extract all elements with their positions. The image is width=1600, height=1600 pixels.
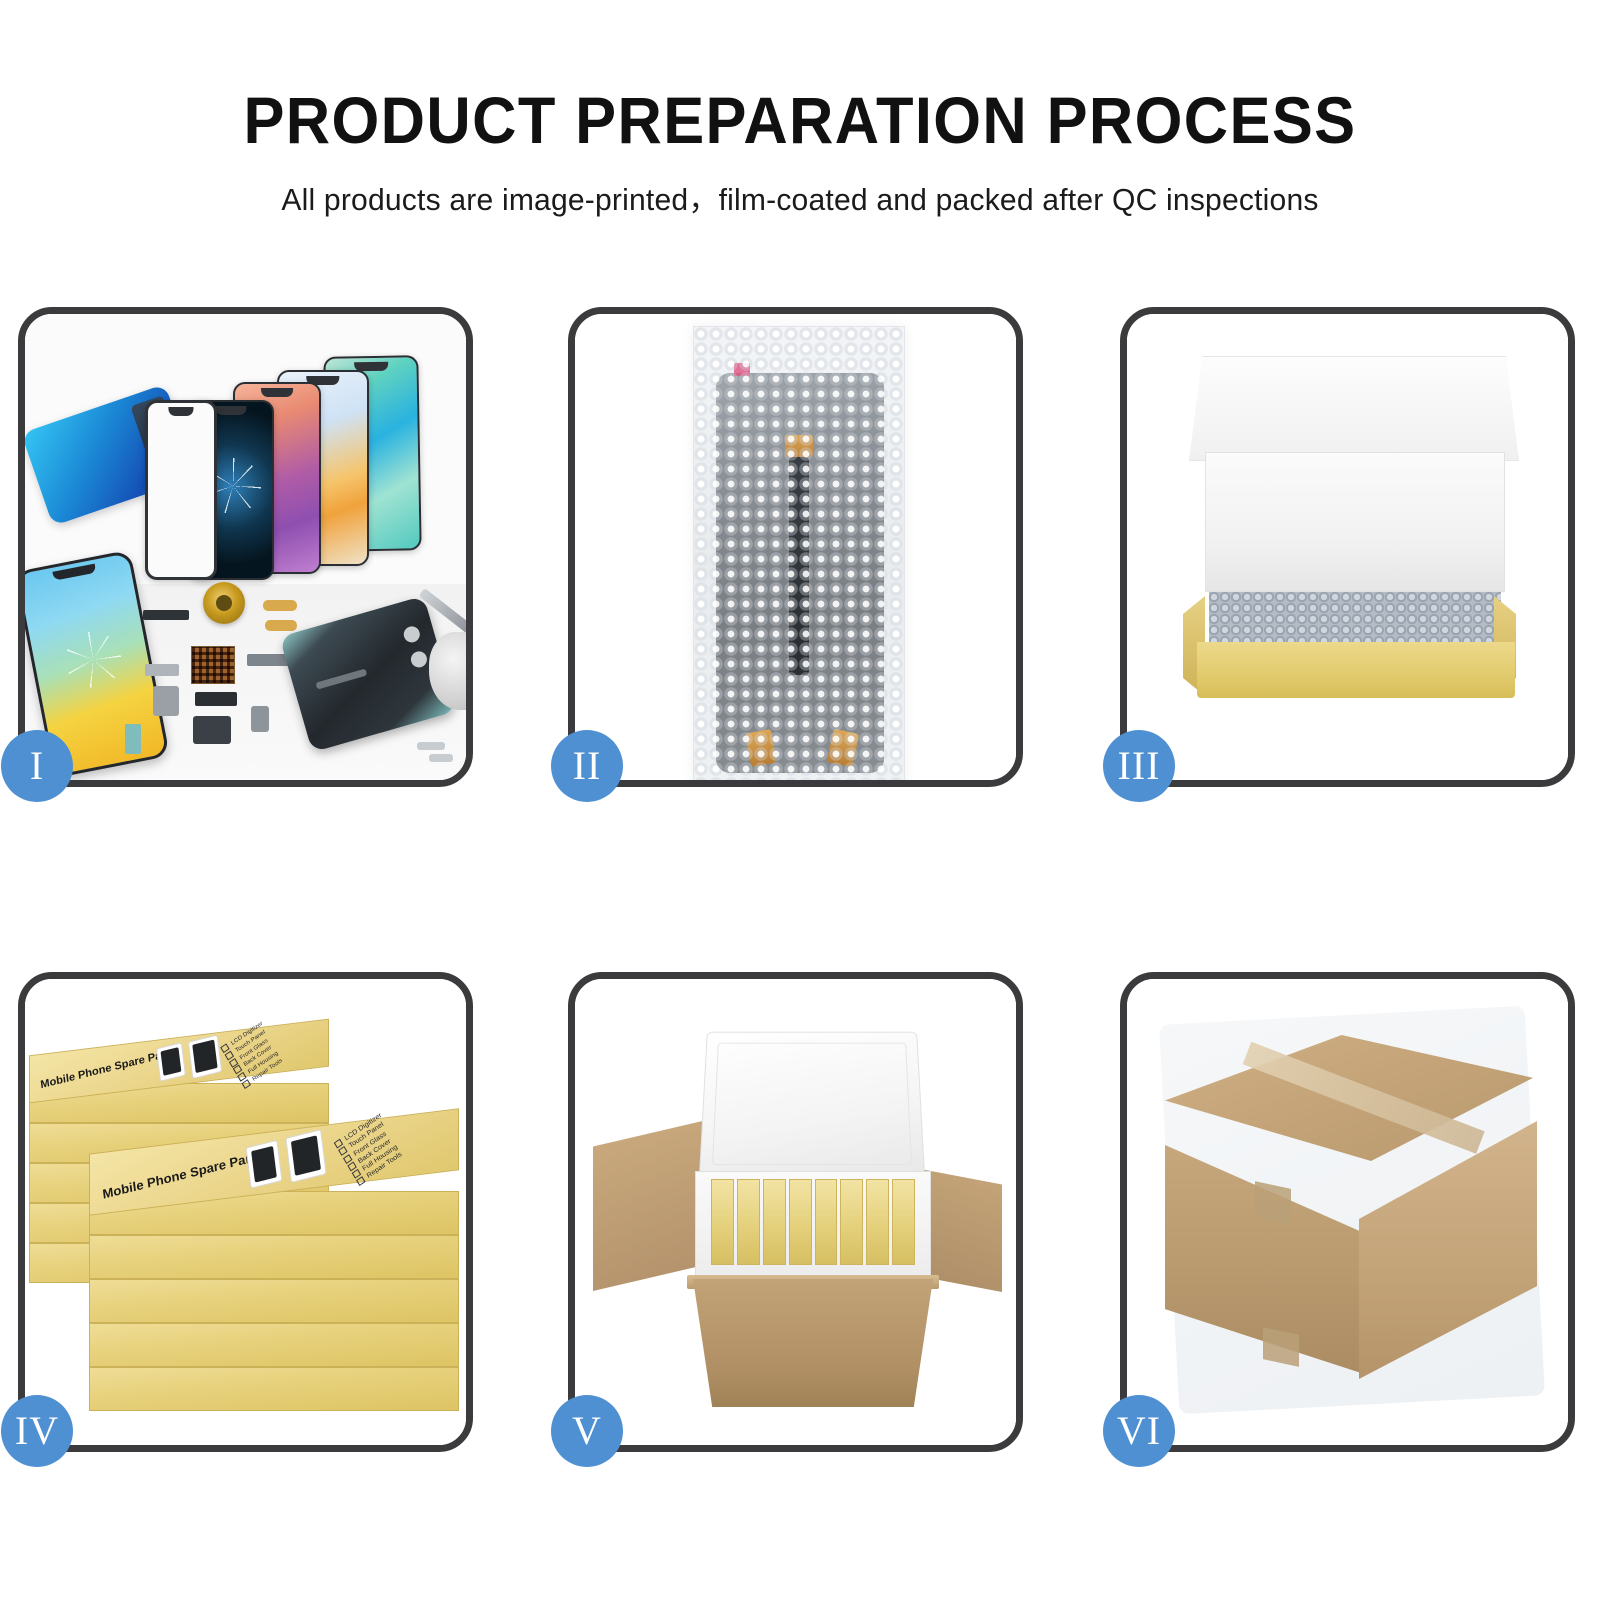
flex-cable-icon bbox=[789, 457, 809, 675]
inner-box-scene bbox=[1127, 314, 1568, 780]
step-4-image: Mobile Phone Spare Parts LCD Digitizer T… bbox=[25, 979, 466, 1445]
phone-notch-icon bbox=[168, 407, 193, 416]
spare-part bbox=[143, 610, 189, 620]
step-panel-2: II bbox=[568, 307, 1023, 787]
phone-notch-icon bbox=[261, 388, 293, 397]
tape-patch bbox=[1255, 1181, 1291, 1225]
spare-part bbox=[265, 620, 297, 631]
stacked-boxes-scene: Mobile Phone Spare Parts LCD Digitizer T… bbox=[25, 979, 466, 1445]
spare-part bbox=[251, 706, 269, 732]
bubble-wrap-scene bbox=[575, 314, 1016, 780]
pink-label-tab bbox=[734, 363, 750, 376]
retail-box-phone-image bbox=[246, 1140, 283, 1189]
gold-box-unit bbox=[866, 1179, 889, 1265]
phone-notch-icon bbox=[215, 406, 246, 415]
spare-part bbox=[429, 754, 453, 762]
spare-part bbox=[153, 686, 179, 716]
step-2-image bbox=[575, 314, 1016, 780]
camera-lens-icon bbox=[409, 649, 429, 669]
step-6-image bbox=[1127, 979, 1568, 1445]
step-badge-4: IV bbox=[1, 1395, 73, 1467]
battery-strip-icon bbox=[315, 669, 367, 690]
retail-box-phone-image bbox=[188, 1035, 222, 1079]
spare-part bbox=[195, 692, 237, 706]
gold-box-unit bbox=[840, 1179, 863, 1265]
step-5-image bbox=[575, 979, 1016, 1445]
gold-box-unit bbox=[711, 1179, 734, 1265]
wireless-charging-coil-icon bbox=[203, 582, 245, 624]
connector-icon bbox=[745, 729, 777, 767]
gold-box-unit bbox=[763, 1179, 786, 1265]
gold-box-unit bbox=[815, 1179, 838, 1265]
white-foam-sheet bbox=[1205, 452, 1505, 592]
step-badge-5: V bbox=[551, 1395, 623, 1467]
step-badge-6: VI bbox=[1103, 1395, 1175, 1467]
infographic-page: PRODUCT PREPARATION PROCESS All products… bbox=[0, 0, 1600, 1600]
carton-flap-left bbox=[593, 1119, 711, 1291]
gold-box-unit bbox=[737, 1179, 760, 1265]
page-subtitle: All products are image-printed，film-coat… bbox=[24, 174, 1576, 219]
process-step-grid: I II bbox=[0, 307, 1600, 1597]
spare-part bbox=[145, 664, 179, 676]
step-panel-3: III bbox=[1120, 307, 1575, 787]
front-glass-panel bbox=[145, 400, 217, 580]
retail-box-stack-front bbox=[89, 1235, 459, 1279]
sealed-carton-scene bbox=[1127, 979, 1568, 1445]
header: PRODUCT PREPARATION PROCESS All products… bbox=[0, 0, 1600, 219]
carton-loading-scene bbox=[575, 979, 1016, 1445]
step-badge-3: III bbox=[1103, 730, 1175, 802]
box-front-panel bbox=[1197, 642, 1515, 698]
phone-notch-icon bbox=[52, 564, 95, 581]
step-panel-6: VI bbox=[1120, 972, 1575, 1452]
foam-box-lid bbox=[699, 1032, 925, 1178]
page-title: PRODUCT PREPARATION PROCESS bbox=[56, 82, 1544, 158]
product-collage-scene bbox=[25, 314, 466, 780]
spare-part bbox=[125, 724, 141, 754]
gray-bubble-wrap-fill bbox=[1209, 592, 1501, 644]
gold-boxes-inside bbox=[711, 1179, 915, 1265]
bubble-wrap-bag bbox=[693, 326, 905, 780]
ic-chip-icon bbox=[191, 646, 235, 684]
retail-box-phone-image bbox=[156, 1042, 186, 1082]
step-panel-5: V bbox=[568, 972, 1023, 1452]
spare-part bbox=[417, 742, 445, 750]
retail-box-stack-front bbox=[89, 1279, 459, 1323]
spare-part bbox=[263, 600, 297, 611]
box-lid-open bbox=[1189, 356, 1519, 461]
gold-box-unit bbox=[789, 1179, 812, 1265]
retail-box-stack-front bbox=[89, 1323, 459, 1367]
cracked-glass-icon bbox=[61, 627, 127, 693]
step-3-image bbox=[1127, 314, 1568, 780]
step-badge-1: I bbox=[1, 730, 73, 802]
step-badge-2: II bbox=[551, 730, 623, 802]
camera-lens-icon bbox=[402, 625, 422, 645]
step-panel-4: Mobile Phone Spare Parts LCD Digitizer T… bbox=[18, 972, 473, 1452]
retail-box-phone-image bbox=[285, 1129, 326, 1183]
retail-box-stack-front bbox=[89, 1367, 459, 1411]
spare-part bbox=[193, 716, 231, 744]
gold-box-unit bbox=[892, 1179, 915, 1265]
step-panel-1: I bbox=[18, 307, 473, 787]
carton-body bbox=[693, 1279, 933, 1407]
step-1-image bbox=[25, 314, 466, 780]
